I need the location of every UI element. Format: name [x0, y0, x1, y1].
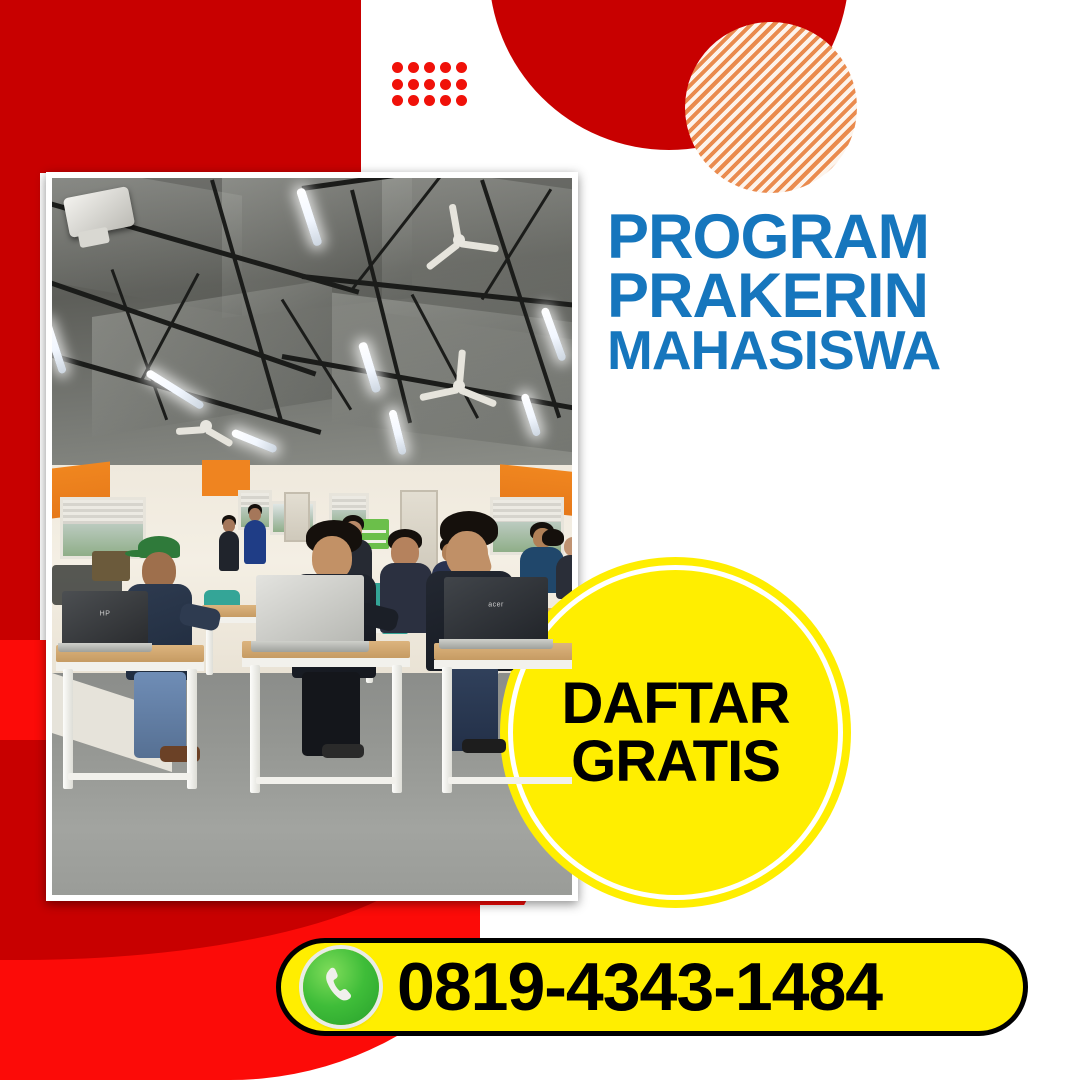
top-left-red-block — [0, 0, 361, 173]
grid-dot — [440, 62, 451, 73]
laptop-hp: HP — [62, 591, 148, 653]
grid-dot — [440, 95, 451, 106]
headline-block: PROGRAM PRAKERIN MAHASISWA — [607, 208, 1037, 376]
grid-dot — [456, 62, 467, 73]
grid-dot — [424, 95, 435, 106]
orange-striped-circle — [685, 22, 857, 193]
badge-text: DAFTAR GRATIS — [561, 675, 789, 791]
badge-line-1: DAFTAR — [561, 675, 789, 733]
badge-line-2: GRATIS — [561, 733, 789, 791]
grid-dot — [456, 95, 467, 106]
phone-handset-icon — [303, 949, 379, 1025]
headline-line-1: PROGRAM — [607, 208, 1037, 267]
grid-dot — [440, 79, 451, 90]
classroom-photo: HP acer — [52, 178, 572, 895]
laptop-silver — [256, 575, 364, 653]
grid-dot — [456, 79, 467, 90]
grid-dot — [424, 79, 435, 90]
headline-line-2: PRAKERIN — [607, 267, 1037, 326]
grid-dot — [408, 62, 419, 73]
grid-dot — [392, 95, 403, 106]
grid-dot — [408, 79, 419, 90]
desk-front-1 — [56, 645, 204, 795]
classroom-photo-card: HP acer — [46, 172, 578, 901]
phone-number-text: 0819-4343-1484 — [397, 948, 882, 1026]
grid-dot — [392, 62, 403, 73]
grid-dot — [408, 95, 419, 106]
laptop-brand-label: HP — [100, 611, 111, 618]
desk-front-3 — [434, 643, 572, 801]
phone-cta-pill[interactable]: 0819-4343-1484 — [276, 938, 1028, 1036]
headline-line-3: MAHASISWA — [607, 325, 1037, 376]
grid-dot — [424, 62, 435, 73]
red-dot-grid — [392, 62, 468, 108]
laptop-acer: acer — [444, 577, 548, 651]
poster-canvas: HP acer PROGRAM PRAKERIN MAHASISWA — [0, 0, 1080, 1080]
laptop-brand-label: acer — [488, 601, 504, 608]
grid-dot — [392, 79, 403, 90]
back-equipment-2 — [92, 551, 130, 581]
desk-front-2 — [242, 641, 410, 801]
photo-ceiling — [52, 178, 572, 479]
